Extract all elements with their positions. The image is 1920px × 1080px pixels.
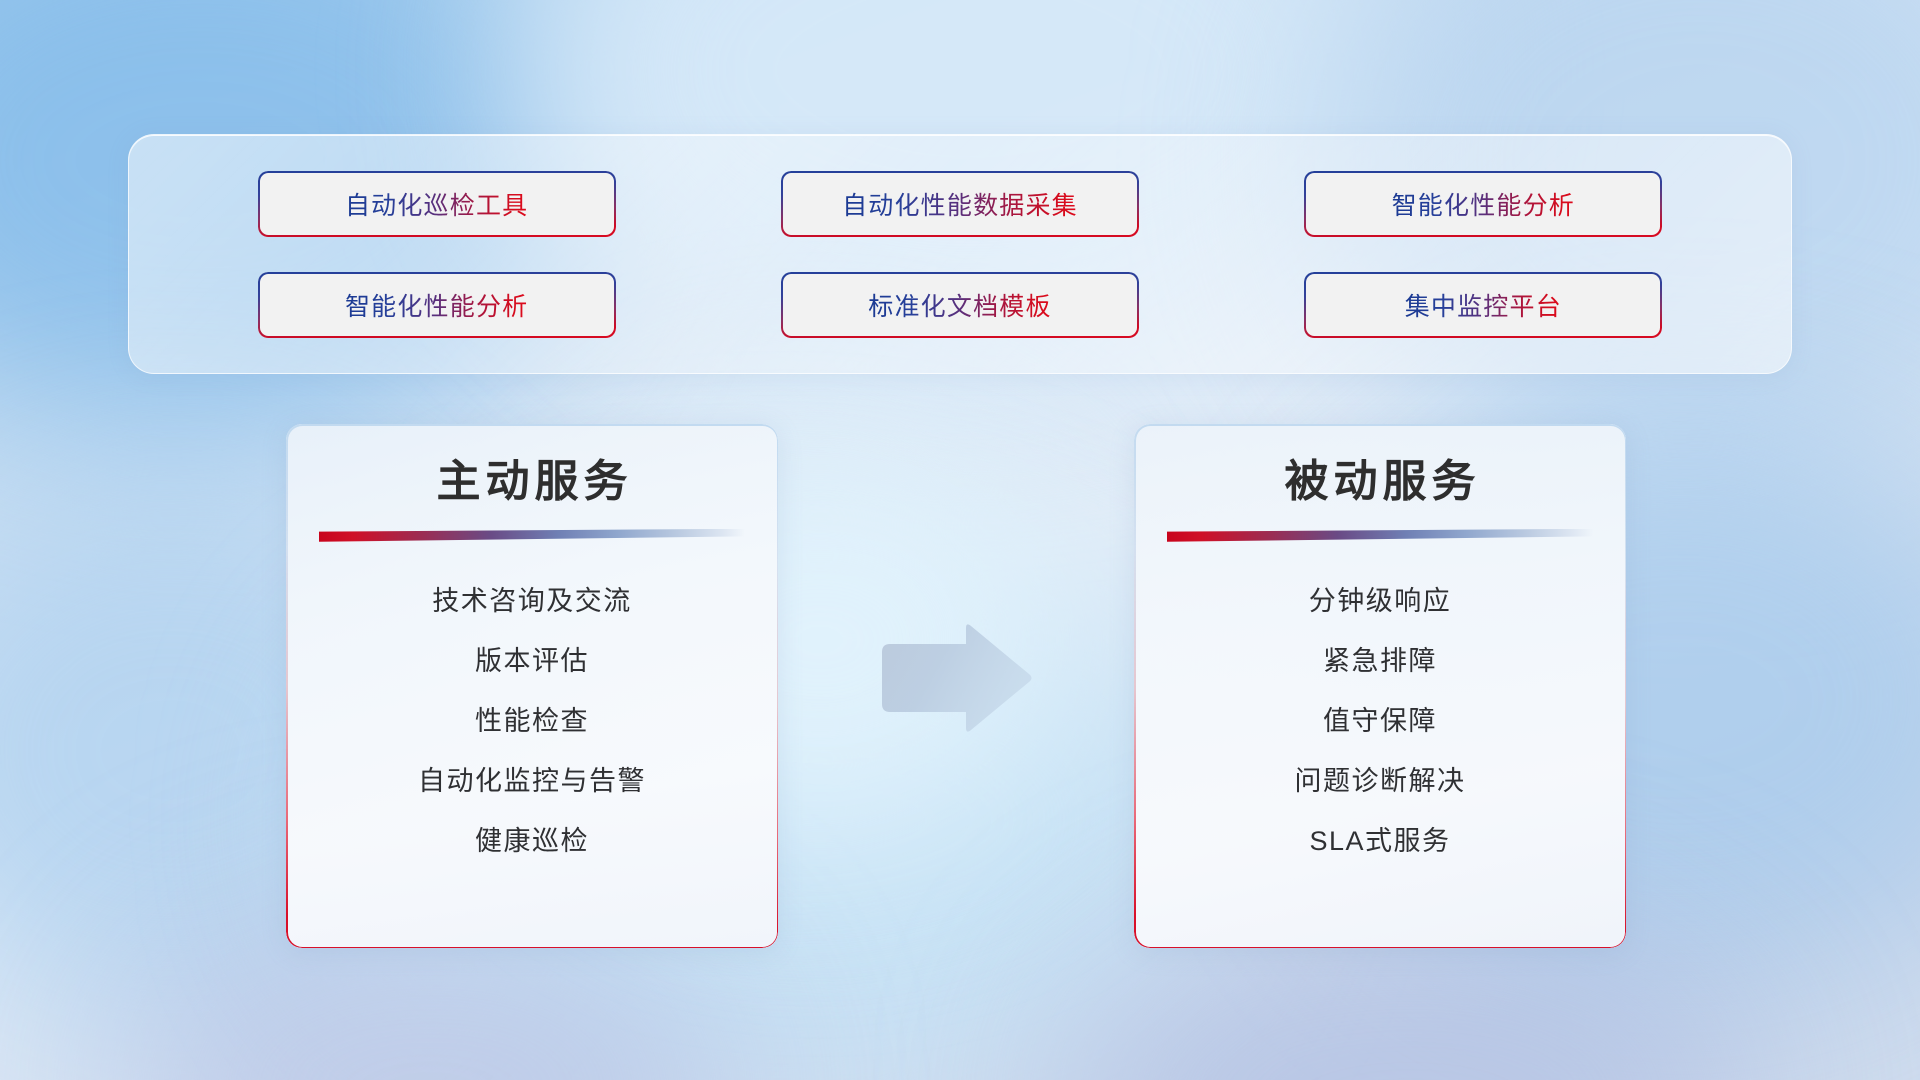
arrow-right-icon (876, 624, 1034, 732)
service-card-reactive[interactable]: 被动服务 分钟级响应 紧急排障 值守保障 问题诊断解决 SLA式服务 (1134, 424, 1626, 948)
capability-pill[interactable]: 集中监控平台 (1304, 272, 1662, 338)
card-divider (1167, 529, 1593, 542)
capability-pill[interactable]: 自动化巡检工具 (258, 171, 616, 237)
list-item: SLA式服务 (1309, 818, 1450, 864)
capability-pill[interactable]: 标准化文档模板 (781, 272, 1139, 338)
card-divider (319, 529, 745, 542)
capability-pill-label: 智能化性能分析 (345, 287, 528, 323)
service-card-proactive[interactable]: 主动服务 技术咨询及交流 版本评估 性能检查 自动化监控与告警 健康巡检 (286, 424, 778, 948)
capability-pill[interactable]: 自动化性能数据采集 (781, 171, 1139, 237)
capability-pill-label: 标准化文档模板 (868, 287, 1051, 323)
capability-pill-label: 智能化性能分析 (1392, 186, 1575, 222)
card-title: 被动服务 (1280, 456, 1481, 509)
list-item: 问题诊断解决 (1295, 758, 1466, 804)
capability-pill-label: 自动化巡检工具 (345, 186, 528, 222)
list-item: 技术咨询及交流 (432, 578, 632, 624)
list-item: 版本评估 (475, 638, 589, 684)
list-item: 值守保障 (1323, 698, 1437, 744)
list-item: 健康巡检 (475, 818, 589, 864)
list-item: 紧急排障 (1323, 638, 1437, 684)
list-item: 性能检查 (475, 698, 589, 744)
capability-pill[interactable]: 智能化性能分析 (1304, 171, 1662, 237)
card-item-list: 分钟级响应 紧急排障 值守保障 问题诊断解决 SLA式服务 (1134, 578, 1626, 864)
capability-panel: 自动化巡检工具 自动化性能数据采集 智能化性能分析 智能化性能分析 标准化文档模… (128, 134, 1792, 374)
card-item-list: 技术咨询及交流 版本评估 性能检查 自动化监控与告警 健康巡检 (286, 578, 778, 864)
capability-pill-label: 自动化性能数据采集 (842, 186, 1078, 222)
capability-pill-label: 集中监控平台 (1405, 287, 1562, 323)
list-item: 自动化监控与告警 (418, 758, 646, 804)
capability-pill[interactable]: 智能化性能分析 (258, 272, 616, 338)
card-title: 主动服务 (432, 456, 633, 509)
list-item: 分钟级响应 (1309, 578, 1452, 624)
slide-stage: 自动化巡检工具 自动化性能数据采集 智能化性能分析 智能化性能分析 标准化文档模… (0, 0, 1920, 1080)
